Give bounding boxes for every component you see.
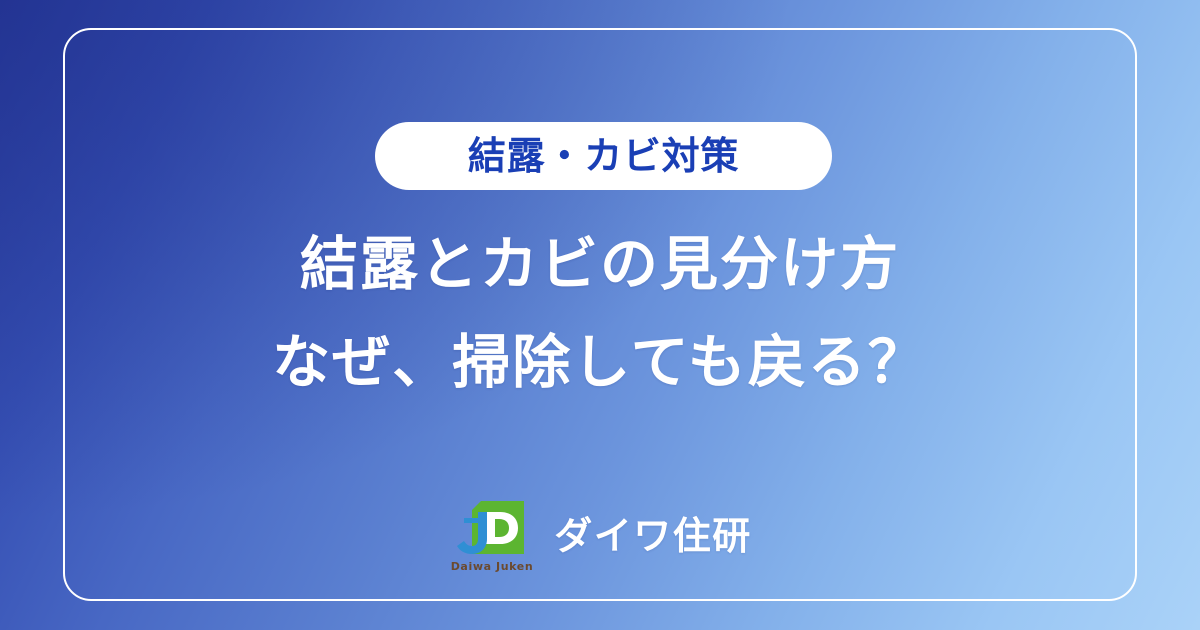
category-badge: 結露・カビ対策: [375, 122, 832, 190]
brand-lockup: Daiwa Juken ダイワ住研: [0, 498, 1200, 574]
brand-name: ダイワ住研: [554, 517, 752, 555]
svg-text:Daiwa Juken: Daiwa Juken: [451, 560, 534, 573]
headline-line-2: なぜ、掃除しても戻る？: [0, 333, 1200, 391]
headline-line-1: 結露とカビの見分け方: [0, 235, 1200, 293]
daiwa-juken-logo-icon: Daiwa Juken: [448, 498, 536, 574]
content-stack: 結露・カビ対策 結露とカビの見分け方 なぜ、掃除しても戻る？: [0, 0, 1200, 630]
category-badge-label: 結露・カビ対策: [468, 137, 739, 175]
headline: 結露とカビの見分け方 なぜ、掃除しても戻る？: [0, 235, 1200, 391]
og-image-canvas: 結露・カビ対策 結露とカビの見分け方 なぜ、掃除しても戻る？: [0, 0, 1200, 630]
